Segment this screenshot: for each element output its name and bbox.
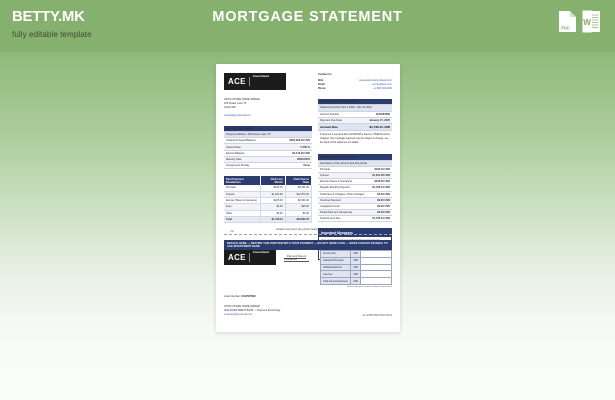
coupon-row: Late Fee USD	[321, 271, 392, 278]
coupon-input-late-fee[interactable]	[361, 271, 392, 278]
statement-summary-box: Mortgage Activity Statement Statement Pe…	[318, 99, 392, 124]
bank-logo-stub: ACE investment bank	[224, 250, 276, 265]
coupon-row: Additional Principal USD	[321, 257, 392, 264]
coupon-row: Total Amount Enclosed USD	[321, 278, 392, 285]
table-total-row: Total$1,736.44$20,896.97	[224, 217, 312, 223]
payment-coupon: Amount Due USD Additional Principal USD …	[320, 250, 392, 285]
word-file-icon[interactable]: W	[582, 10, 601, 33]
svg-text:W: W	[583, 18, 591, 27]
stub-account-label: Loan Number:	[224, 295, 240, 298]
borrower-address: JOHN CITIZEN HOME OWNER 105 Flower Lane …	[224, 98, 312, 118]
logo-divider	[249, 253, 250, 262]
payment-coupon-wrap: Amount Due USD Additional Principal USD …	[320, 250, 392, 288]
detach-caption: Detach and return the portion below with…	[216, 228, 400, 231]
table-total-row: Total Amount Due$1,736.44 USD	[318, 216, 392, 222]
amount-due-row: Amount Due $1,736.41 USD	[318, 124, 392, 131]
header-band	[0, 0, 615, 52]
past-payment-table: Past Payment Breakdown Paid Last Month P…	[224, 176, 312, 223]
col-header: Paid Last Month	[260, 176, 285, 185]
coupon-input-additional-escrow[interactable]	[361, 264, 392, 271]
table-row: Payment Due DateJanuary 15, 2025	[318, 117, 392, 123]
table-header-row: Past Payment Breakdown Paid Last Month P…	[224, 176, 312, 185]
detach-instruction-bar: DETACH HERE — RETURN THIS PORTION WITH Y…	[224, 240, 392, 250]
coupon-input-additional-principal[interactable]	[361, 257, 392, 264]
col-header: Paid Year to Date	[285, 176, 311, 185]
table-row: Prepayment PenaltyNone	[224, 162, 312, 168]
contact-title: Contact Us	[318, 73, 392, 77]
document-page[interactable]: ACE investment bank JOHN CITIZEN HOME OW…	[216, 64, 400, 332]
detach-dashed-line	[224, 234, 392, 235]
stub-scanline: 00 1234567890 0000173644	[363, 315, 392, 317]
amount-due-label: Amount Due	[320, 125, 338, 129]
coupon-row: Amount Due USD	[321, 251, 392, 258]
pdf-file-icon[interactable]: PDF	[558, 10, 577, 33]
left-column: ACE investment bank JOHN CITIZEN HOME OW…	[224, 73, 312, 260]
bank-logo: ACE investment bank	[224, 73, 286, 90]
col-header: Past Payment Breakdown	[224, 176, 260, 185]
contact-block: Contact Us Webwww.aceinvestmentbank.com …	[318, 73, 392, 91]
coupon-input-total-enclosed[interactable]	[361, 278, 392, 285]
contact-row: Phone+1 800 000 0000	[318, 87, 392, 91]
payment-stub-top: ACE investment bank Payment Due on 01/15…	[224, 250, 392, 288]
svg-text:PDF: PDF	[561, 25, 570, 30]
stub-account-value: 1234567890	[241, 295, 255, 298]
coupon-input-amount-due[interactable]	[361, 251, 392, 258]
right-column: Contact Us Webwww.aceinvestmentbank.com …	[318, 73, 392, 260]
borrower-email[interactable]: example@youremail.com	[224, 114, 312, 118]
explanation-table: Explanation of Amount Due Itemization of…	[318, 154, 392, 222]
payment-stub: ACE investment bank Payment Due on 01/15…	[224, 250, 392, 317]
stub-account-line: Loan Number: 1234567890	[224, 295, 392, 298]
coupon-row: Additional Escrow USD	[321, 264, 392, 271]
document-columns: ACE investment bank JOHN CITIZEN HOME OW…	[224, 73, 392, 260]
amount-due-value: $1,736.41 USD	[369, 125, 390, 129]
page-title: MORTGAGE STATEMENT	[0, 9, 615, 25]
logo-subtext: investment bank	[253, 64, 269, 100]
logo-mark: ACE	[228, 77, 246, 86]
filetype-icons: PDF W	[558, 10, 601, 33]
payment-due-label: Payment Due on 01/15/2025	[276, 250, 320, 261]
stub-logo-wrap: ACE investment bank	[224, 250, 276, 265]
logo-divider	[249, 77, 250, 86]
brand-tagline: fully editable template	[12, 31, 92, 39]
coupon-note: Please write your account number on your…	[320, 286, 392, 288]
account-information-table: Account Information Property Address: 10…	[224, 126, 312, 169]
document-body: ACE investment bank JOHN CITIZEN HOME OW…	[216, 64, 400, 332]
late-fee-note: If payment is received after 01/15/2025 …	[318, 131, 392, 146]
